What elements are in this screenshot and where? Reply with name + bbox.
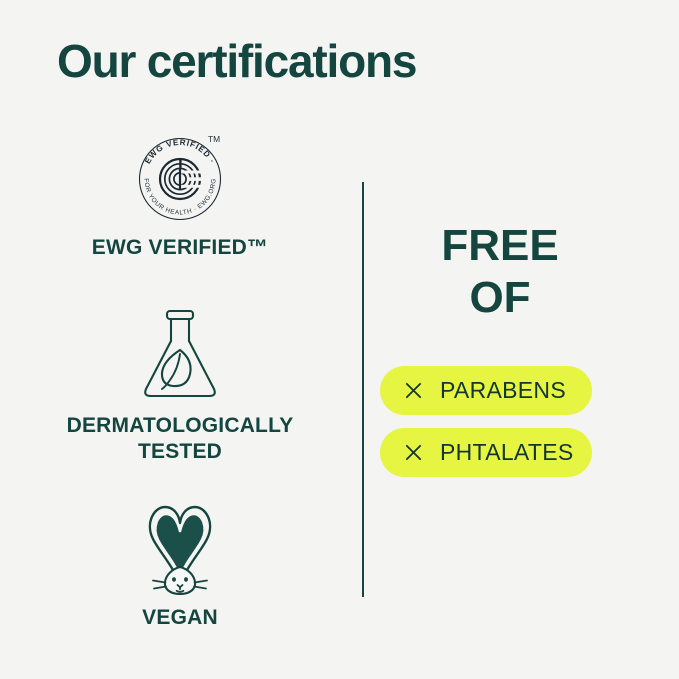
certification-icon-wrap	[20, 303, 340, 407]
certification-item-dermatologically-tested: DERMATOLOGICALLY TESTED	[20, 303, 340, 465]
certification-item-ewg-verified: EWG VERIFIED · FOR YOUR HEALTH · EWG.ORG	[20, 125, 340, 261]
free-of-heading: FREE OF	[380, 220, 620, 324]
bunny-heart-vegan-icon	[132, 495, 228, 599]
free-of-list: PARABENS PHTALATES	[380, 366, 620, 477]
free-of-item-label: PHTALATES	[440, 441, 574, 464]
certifications-panel: Our certifications EWG VERIFIED	[0, 0, 679, 679]
free-of-item-label: PARABENS	[440, 379, 566, 402]
free-of-item-parabens[interactable]: PARABENS	[380, 366, 592, 415]
certification-label: DERMATOLOGICALLY TESTED	[20, 413, 340, 465]
certification-item-vegan: VEGAN	[20, 495, 340, 631]
svg-text:TM: TM	[208, 134, 220, 144]
certification-icon-wrap	[20, 495, 340, 599]
free-of-item-phtalates[interactable]: PHTALATES	[380, 428, 592, 477]
certifications-column: EWG VERIFIED · FOR YOUR HEALTH · EWG.ORG	[20, 125, 340, 655]
ewg-verified-seal-icon: EWG VERIFIED · FOR YOUR HEALTH · EWG.ORG	[128, 125, 232, 229]
x-mark-icon	[404, 381, 423, 400]
x-mark-icon	[404, 443, 423, 462]
certification-label: VEGAN	[20, 605, 340, 631]
certification-icon-wrap: EWG VERIFIED · FOR YOUR HEALTH · EWG.ORG	[20, 125, 340, 229]
free-of-column: FREE OF PARABENS PHTALATES	[380, 220, 660, 477]
column-divider	[362, 182, 364, 597]
flask-leaf-icon	[134, 305, 226, 405]
certification-label: EWG VERIFIED™	[20, 235, 340, 261]
page-title: Our certifications	[57, 33, 416, 89]
